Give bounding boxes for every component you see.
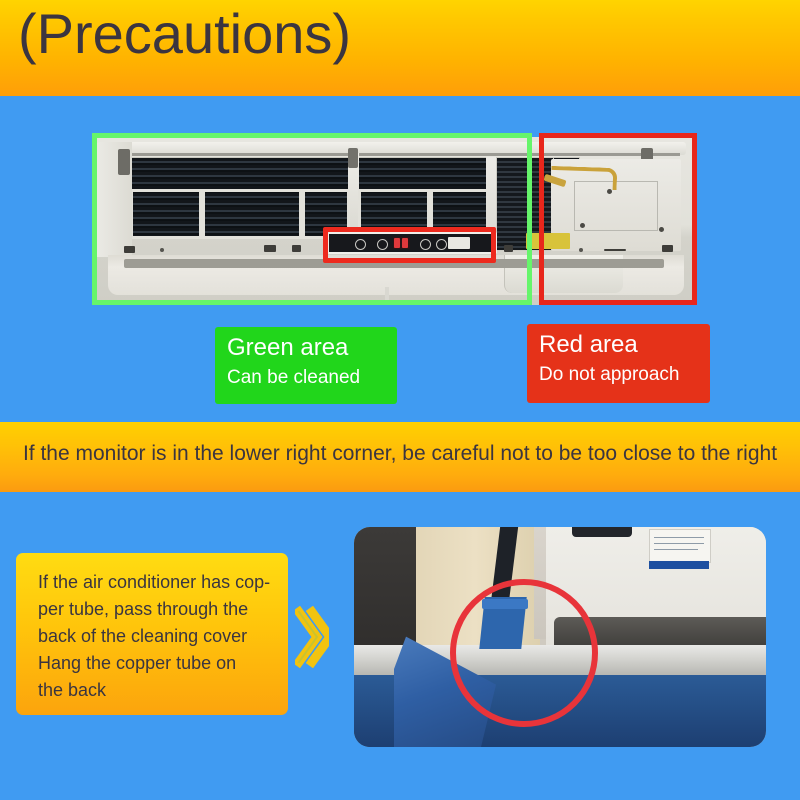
legend-green-title: Green area (227, 333, 385, 363)
note-line-3: back of the cleaning cover (38, 623, 272, 650)
legend-red-area: Red area Do not approach (527, 324, 710, 403)
ac-spec-label-line (654, 549, 698, 550)
caption-band: If the monitor is in the lower right cor… (0, 422, 800, 492)
legend-green-subtitle: Can be cleaned (227, 363, 385, 393)
ac-spec-label-line (654, 537, 704, 538)
note-line-2: per tube, pass through the (38, 596, 272, 623)
green-area-outline (92, 133, 532, 305)
legend-red-title: Red area (539, 330, 698, 360)
ac-spec-label (649, 529, 711, 563)
ac-brand-bar (649, 561, 709, 569)
caption-text: If the monitor is in the lower right cor… (3, 442, 797, 466)
red-highlight-circle (450, 579, 598, 727)
double-chevron-right-icon (295, 606, 329, 668)
legend-green-area: Green area Can be cleaned (215, 327, 397, 404)
note-line-1: If the air conditioner has cop- (38, 569, 272, 596)
page-title: (Precautions) (18, 6, 351, 62)
note-line-5: the back (38, 677, 272, 704)
copper-tube-note: If the air conditioner has cop- per tube… (16, 553, 288, 715)
copper-tube-photo (354, 527, 766, 747)
ac-unit-top-tab (572, 527, 632, 537)
note-line-4: Hang the copper tube on (38, 650, 272, 677)
infographic-page: (Precautions) (0, 0, 800, 800)
header-band: (Precautions) (0, 0, 800, 96)
red-area-outline (539, 133, 697, 305)
legend-red-subtitle: Do not approach (539, 360, 698, 390)
ac-spec-label-line (654, 543, 704, 544)
red-control-panel-outline (323, 227, 496, 263)
